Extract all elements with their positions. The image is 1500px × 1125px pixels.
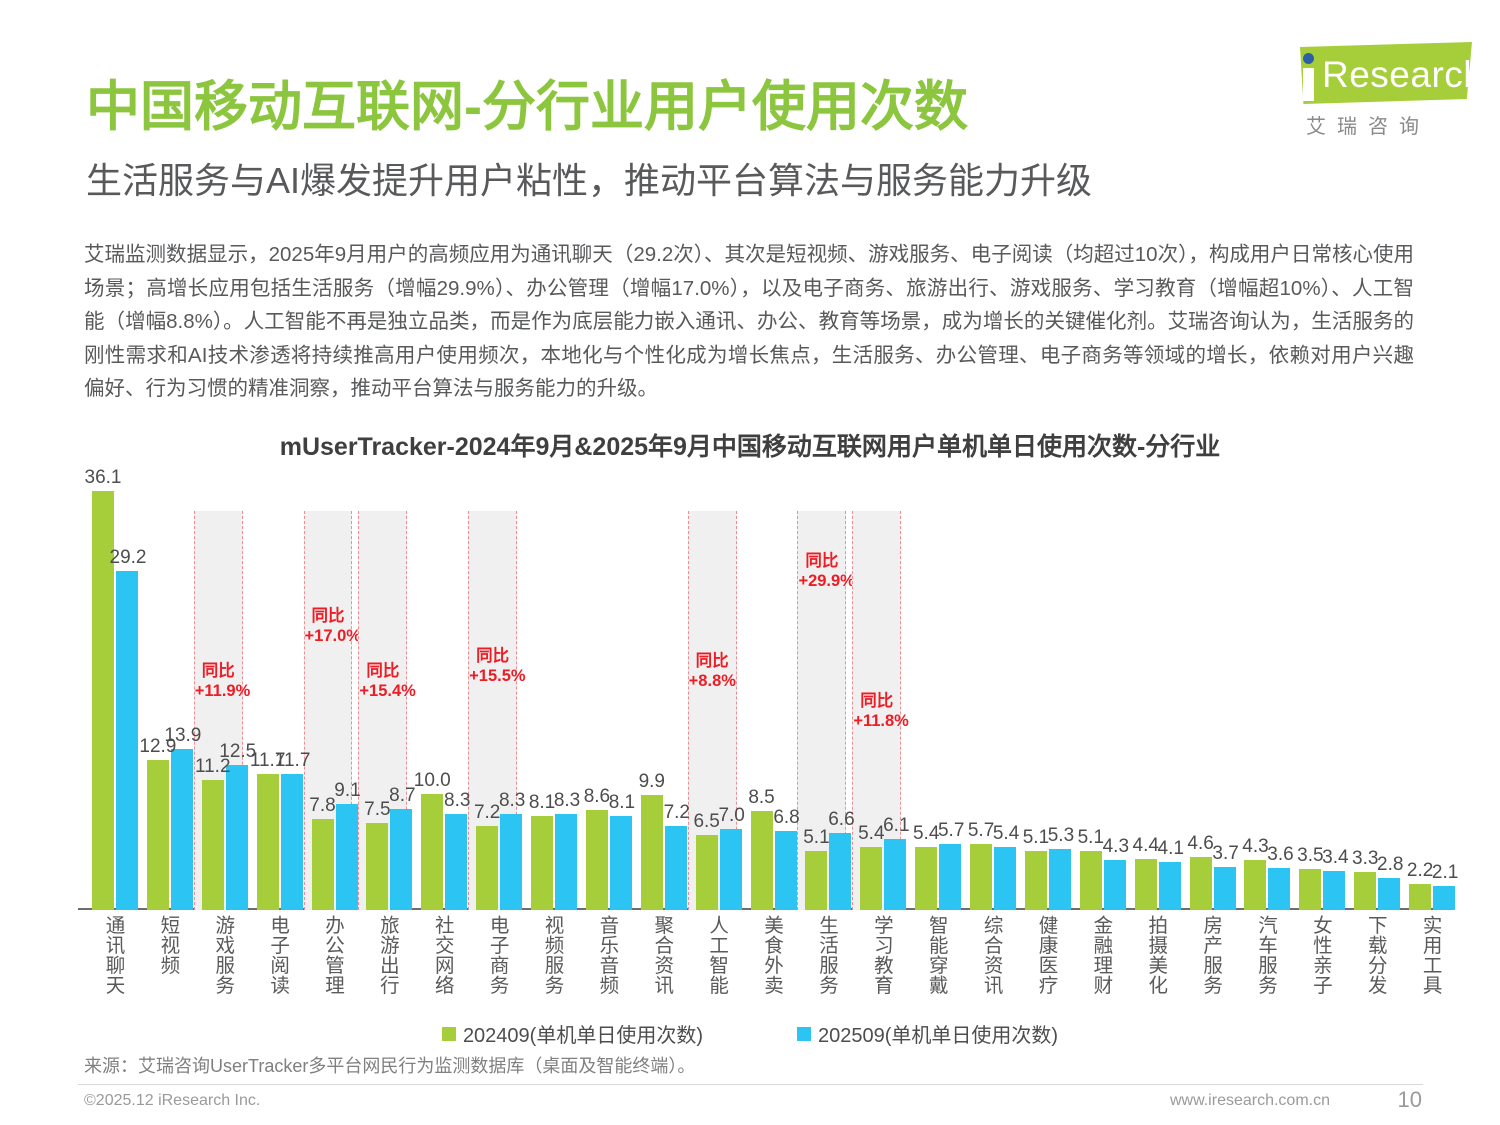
bar-202509[interactable] — [500, 814, 522, 910]
bar-202509[interactable] — [994, 847, 1016, 910]
x-axis-label: 综合资讯 — [975, 915, 1001, 995]
x-axis-label: 汽车服务 — [1249, 915, 1275, 995]
bar-202509[interactable] — [665, 826, 687, 910]
x-axis-label: 通讯聊天 — [97, 915, 123, 995]
x-axis-label: 人工智能 — [701, 915, 727, 995]
bar-value-label-202509: 6.8 — [764, 807, 810, 829]
bar-202509[interactable] — [1159, 862, 1181, 910]
bar-group[interactable]: 7.58.7 — [366, 485, 412, 910]
bar-202509[interactable] — [1323, 871, 1345, 910]
x-axis-label: 音乐音频 — [591, 915, 617, 995]
bar-group[interactable]: 11.711.7 — [257, 485, 303, 910]
bar-202409[interactable] — [147, 760, 169, 910]
x-axis-label: 短视频 — [152, 915, 178, 975]
chart-legend: 202409(单机单日使用次数) 202509(单机单日使用次数) — [0, 1019, 1500, 1048]
x-axis-labels: 通讯聊天短视频游戏服务电子阅读办公管理旅游出行社交网络电子商务视频服务音乐音频聚… — [78, 915, 1450, 1020]
bar-chart: 同比+11.9%同比+17.0%同比+15.4%同比+15.5%同比+8.8%同… — [78, 485, 1450, 910]
legend-swatch-202409 — [442, 1027, 456, 1041]
bar-202409[interactable] — [1299, 869, 1321, 910]
bar-202409[interactable] — [312, 819, 334, 910]
bar-group[interactable]: 9.97.2 — [641, 485, 687, 910]
bar-202509[interactable] — [1214, 867, 1236, 910]
bar-group[interactable]: 8.56.8 — [751, 485, 797, 910]
page-subtitle: 生活服务与AI爆发提升用户粘性，推动平台算法与服务能力升级 — [86, 152, 1092, 204]
legend-item-202509[interactable]: 202509(单机单日使用次数) — [797, 1019, 1058, 1048]
bar-202509[interactable] — [555, 814, 577, 910]
bar-202509[interactable] — [1433, 886, 1455, 910]
bar-202409[interactable] — [860, 847, 882, 910]
bar-group[interactable]: 5.14.3 — [1080, 485, 1126, 910]
x-axis-label: 社交网络 — [426, 915, 452, 995]
page-title: 中国移动互联网-分行业用户使用次数 — [86, 62, 968, 141]
bar-202409[interactable] — [1025, 851, 1047, 910]
bar-202509[interactable] — [226, 765, 248, 910]
x-axis-label: 游戏服务 — [207, 915, 233, 995]
bar-202509[interactable] — [390, 809, 412, 910]
bar-202509[interactable] — [610, 816, 632, 910]
x-axis-label: 生活服务 — [810, 915, 836, 995]
x-axis-label: 拍摄美化 — [1140, 915, 1166, 995]
bar-202509[interactable] — [1049, 849, 1071, 911]
x-axis-label: 美食外卖 — [756, 915, 782, 995]
copyright-text: ©2025.12 iResearch Inc. — [84, 1092, 260, 1110]
bar-value-label-202409: 8.5 — [739, 787, 785, 809]
bar-group[interactable]: 12.913.9 — [147, 485, 193, 910]
bar-group[interactable]: 4.44.1 — [1135, 485, 1181, 910]
bar-202409[interactable] — [1080, 851, 1102, 910]
page-header: 中国移动互联网-分行业用户使用次数 生活服务与AI爆发提升用户粘性，推动平台算法… — [0, 0, 1500, 215]
x-axis-label: 学习教育 — [865, 915, 891, 995]
bar-202409[interactable] — [202, 780, 224, 910]
bar-202409[interactable] — [1244, 860, 1266, 910]
bar-202409[interactable] — [586, 810, 608, 910]
logo-i-stem-icon — [1303, 68, 1314, 101]
bar-202409[interactable] — [1354, 872, 1376, 910]
bar-value-label-202509: 2.1 — [1422, 862, 1468, 884]
x-axis-label: 智能穿戴 — [920, 915, 946, 995]
bar-group[interactable]: 5.16.6 — [805, 485, 851, 910]
bar-202409[interactable] — [531, 816, 553, 910]
bar-202509[interactable] — [1268, 868, 1290, 910]
legend-label-202509: 202509(单机单日使用次数) — [818, 1019, 1058, 1048]
logo-wordmark: Research — [1322, 54, 1484, 96]
bar-group[interactable]: 8.18.3 — [531, 485, 577, 910]
bar-202409[interactable] — [1135, 859, 1157, 910]
footer-divider — [78, 1084, 1423, 1085]
x-axis-label: 聚合资讯 — [646, 915, 672, 995]
bar-group[interactable]: 7.28.3 — [476, 485, 522, 910]
bar-202409[interactable] — [257, 774, 279, 910]
bar-group[interactable]: 7.89.1 — [312, 485, 358, 910]
website-url: www.iresearch.com.cn — [1170, 1092, 1330, 1110]
x-axis-label: 旅游出行 — [371, 915, 397, 995]
bar-202409[interactable] — [915, 847, 937, 910]
bar-202409[interactable] — [970, 844, 992, 910]
x-axis-label: 视频服务 — [536, 915, 562, 995]
x-axis-label: 健康医疗 — [1030, 915, 1056, 995]
legend-swatch-202509 — [797, 1027, 811, 1041]
bar-value-label-202509: 29.2 — [105, 547, 151, 569]
bar-202509[interactable] — [939, 844, 961, 910]
bar-202509[interactable] — [720, 829, 742, 910]
x-axis-label: 电子商务 — [481, 915, 507, 995]
x-axis-label: 办公管理 — [317, 915, 343, 995]
bar-group[interactable]: 5.46.1 — [860, 485, 906, 910]
bar-group[interactable]: 2.22.1 — [1409, 485, 1455, 910]
bar-value-label-202409: 9.9 — [629, 771, 675, 793]
bar-value-label-202509: 8.1 — [599, 792, 645, 814]
bar-202509[interactable] — [884, 839, 906, 910]
bar-group[interactable]: 36.129.2 — [92, 485, 138, 910]
x-axis-label: 女性亲子 — [1304, 915, 1330, 995]
plot-area: 同比+11.9%同比+17.0%同比+15.4%同比+15.5%同比+8.8%同… — [78, 485, 1450, 910]
x-axis-label: 房产服务 — [1195, 915, 1221, 995]
bar-value-label-202409: 10.0 — [409, 770, 455, 792]
lead-paragraph: 艾瑞监测数据显示，2025年9月用户的高频应用为通讯聊天（29.2次）、其次是短… — [84, 238, 1414, 406]
bar-group[interactable]: 3.53.4 — [1299, 485, 1345, 910]
x-axis-label: 实用工具 — [1414, 915, 1440, 995]
logo-i-dot-icon — [1303, 53, 1314, 64]
bar-group[interactable]: 4.33.6 — [1244, 485, 1290, 910]
legend-label-202409: 202409(单机单日使用次数) — [463, 1019, 703, 1048]
bar-group[interactable]: 5.75.4 — [970, 485, 1016, 910]
bar-value-label-202509: 11.7 — [270, 750, 316, 772]
x-axis-label: 下载分发 — [1359, 915, 1385, 995]
bar-202509[interactable] — [445, 814, 467, 910]
bar-202409[interactable] — [476, 826, 498, 910]
logo-chinese-name: 艾瑞咨询 — [1306, 110, 1466, 139]
legend-item-202409[interactable]: 202409(单机单日使用次数) — [442, 1019, 703, 1048]
x-axis-label: 金融理财 — [1085, 915, 1111, 995]
x-axis-label: 电子阅读 — [262, 915, 288, 995]
page-number: 10 — [1398, 1087, 1422, 1113]
bar-202509[interactable] — [1104, 860, 1126, 910]
source-note: 来源：艾瑞咨询UserTracker多平台网民行为监测数据库（桌面及智能终端）。 — [84, 1052, 695, 1078]
bar-202409[interactable] — [1409, 884, 1431, 910]
bar-value-label-202509: 13.9 — [160, 725, 206, 747]
bar-group[interactable]: 6.57.0 — [696, 485, 742, 910]
bar-group[interactable]: 11.212.5 — [202, 485, 248, 910]
bar-202409[interactable] — [805, 851, 827, 910]
bar-202409[interactable] — [366, 823, 388, 910]
bar-value-label-202409: 36.1 — [80, 467, 126, 489]
bar-group[interactable]: 3.32.8 — [1354, 485, 1400, 910]
iresearch-logo: Research 艾瑞咨询 — [1272, 40, 1472, 140]
chart-title: mUserTracker-2024年9月&2025年9月中国移动互联网用户单机单… — [0, 427, 1500, 463]
bar-group[interactable]: 8.68.1 — [586, 485, 632, 910]
bar-group[interactable]: 5.15.3 — [1025, 485, 1071, 910]
bar-group[interactable]: 5.45.7 — [915, 485, 961, 910]
bar-group[interactable]: 4.63.7 — [1190, 485, 1236, 910]
bar-202409[interactable] — [696, 835, 718, 910]
bar-group[interactable]: 10.08.3 — [421, 485, 467, 910]
